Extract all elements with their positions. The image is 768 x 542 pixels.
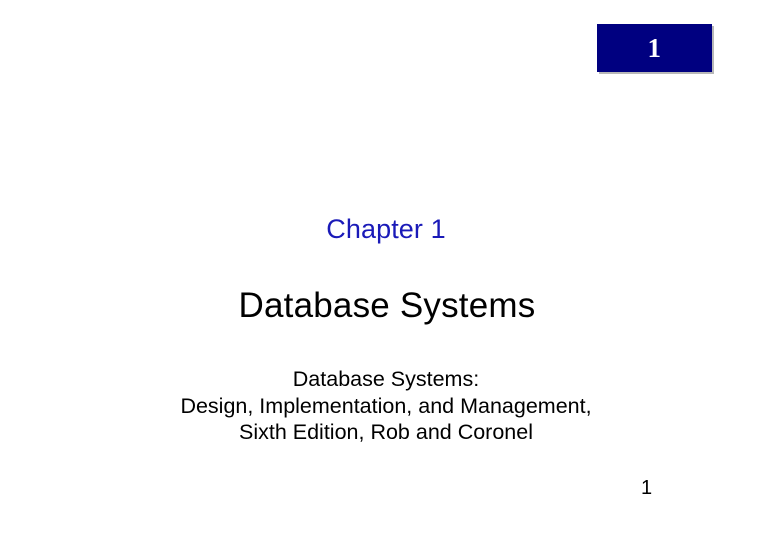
presentation-slide: 1 Chapter 1 Database Systems Database Sy… <box>0 0 768 542</box>
slide-title: Database Systems <box>0 285 768 327</box>
subtitle-line-1: Database Systems: <box>0 366 768 393</box>
subtitle-line-3: Sixth Edition, Rob and Coronel <box>0 419 768 446</box>
subtitle-line-2: Design, Implementation, and Management, <box>0 393 768 420</box>
slide-subtitle: Database Systems: Design, Implementation… <box>0 366 768 446</box>
chapter-badge-number-text: 1 <box>648 35 662 62</box>
chapter-number-badge: 1 <box>597 24 712 72</box>
chapter-label: Chapter 1 <box>0 213 768 245</box>
page-number: 1 <box>641 476 652 500</box>
